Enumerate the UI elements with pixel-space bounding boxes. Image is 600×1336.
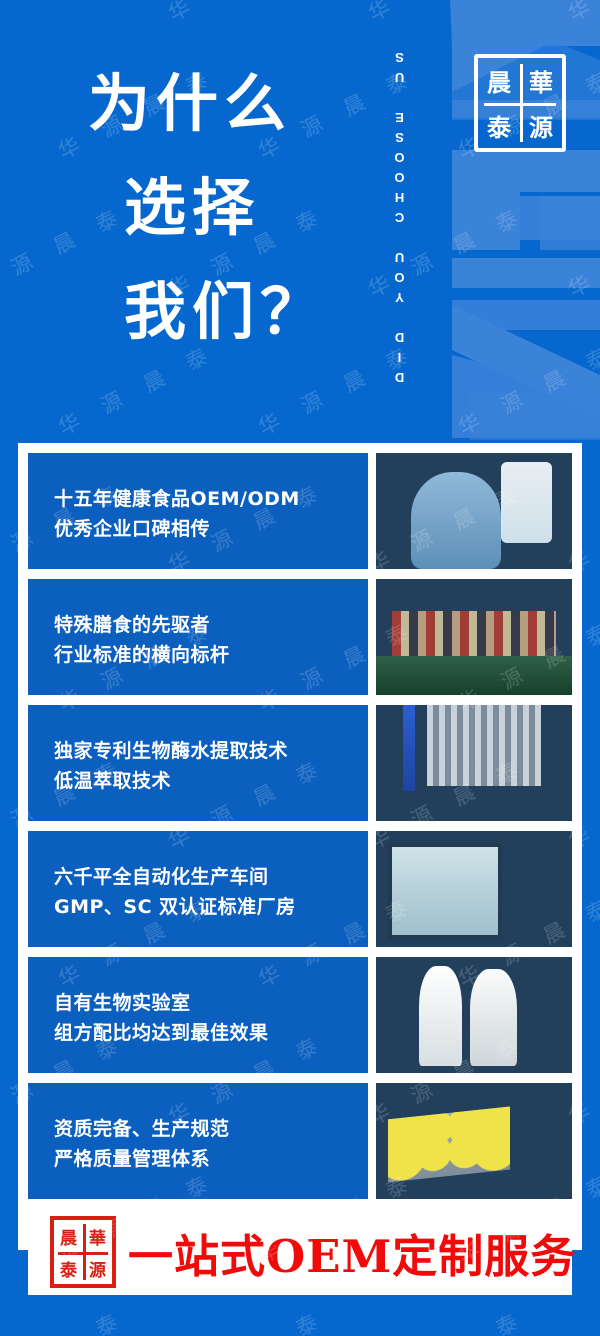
feature-text-box: 独家专利生物酶水提取技术 低温萃取技术 xyxy=(28,705,368,821)
title-line-2: 选择 xyxy=(124,156,388,260)
seal-char-4: 源 xyxy=(520,103,562,148)
page-title: 为什么 选择 我们？ xyxy=(88,52,388,364)
brand-seal-logo: 晨 華 泰 源 xyxy=(474,54,566,152)
seal-char-1: 晨 xyxy=(478,58,520,103)
feature-text-box: 自有生物实验室 组方配比均达到最佳效果 xyxy=(28,957,368,1073)
feature-row: 自有生物实验室 组方配比均达到最佳效果 xyxy=(28,957,572,1073)
poster-root: 为什么 选择 我们？ DID YOU CHOOSE US 晨 華 泰 源 十五年… xyxy=(0,0,600,1336)
feature-line-2: 低温萃取技术 xyxy=(54,766,360,796)
feature-photo-conference xyxy=(376,579,572,695)
feature-photo-lab-staff xyxy=(376,957,572,1073)
watermark-text: 华 源 晨 泰 xyxy=(363,1302,532,1336)
title-line-1: 为什么 xyxy=(88,52,388,156)
footer-seal-char-4: 源 xyxy=(83,1252,112,1284)
feature-list: 十五年健康食品OEM/ODM 优秀企业口碑相传 特殊膳食的先驱者 行业标准的横向… xyxy=(28,453,572,1199)
feature-text-box: 资质完备、生产规范 严格质量管理体系 xyxy=(28,1083,368,1199)
vertical-english-caption: DID YOU CHOOSE US xyxy=(392,30,422,400)
feature-line-1: 特殊膳食的先驱者 xyxy=(54,610,360,640)
footer-banner: 晨 華 泰 源 一站式OEM定制服务 xyxy=(28,1209,572,1295)
feature-line-1: 独家专利生物酶水提取技术 xyxy=(54,736,360,766)
watermark-text: 华 源 晨 泰 xyxy=(163,1302,332,1336)
footer-slogan: 一站式OEM定制服务 xyxy=(128,1220,576,1285)
features-card: 十五年健康食品OEM/ODM 优秀企业口碑相传 特殊膳食的先驱者 行业标准的横向… xyxy=(18,443,582,1250)
feature-line-1: 六千平全自动化生产车间 xyxy=(54,862,360,892)
feature-photo-filling-line xyxy=(376,705,572,821)
feature-line-1: 资质完备、生产规范 xyxy=(54,1114,360,1144)
feature-text-box: 特殊膳食的先驱者 行业标准的横向标杆 xyxy=(28,579,368,695)
feature-photo-blister-packing xyxy=(376,1083,572,1199)
feature-row: 特殊膳食的先驱者 行业标准的横向标杆 xyxy=(28,579,572,695)
seal-divider-horizontal xyxy=(484,103,556,106)
footer-seal-char-3: 泰 xyxy=(54,1252,83,1284)
watermark-text: 华 源 晨 泰 xyxy=(563,1302,600,1336)
feature-text-box: 十五年健康食品OEM/ODM 优秀企业口碑相传 xyxy=(28,453,368,569)
feature-line-2: 严格质量管理体系 xyxy=(54,1144,360,1174)
footer-seal-char-2: 華 xyxy=(83,1220,112,1252)
footer-seal-char-1: 晨 xyxy=(54,1220,83,1252)
title-line-3: 我们？ xyxy=(124,260,388,364)
feature-row: 六千平全自动化生产车间 GMP、SC 双认证标准厂房 xyxy=(28,831,572,947)
feature-row: 独家专利生物酶水提取技术 低温萃取技术 xyxy=(28,705,572,821)
feature-line-1: 十五年健康食品OEM/ODM xyxy=(54,484,360,514)
feature-photo-lab-technician xyxy=(376,453,572,569)
feature-row: 十五年健康食品OEM/ODM 优秀企业口碑相传 xyxy=(28,453,572,569)
seal-char-2: 華 xyxy=(520,58,562,103)
footer-seal-logo: 晨 華 泰 源 xyxy=(50,1216,116,1288)
feature-row: 资质完备、生产规范 严格质量管理体系 xyxy=(28,1083,572,1199)
feature-line-1: 自有生物实验室 xyxy=(54,988,360,1018)
seal-char-3: 泰 xyxy=(478,103,520,148)
feature-text-box: 六千平全自动化生产车间 GMP、SC 双认证标准厂房 xyxy=(28,831,368,947)
feature-line-2: 优秀企业口碑相传 xyxy=(54,514,360,544)
footer-seal-divider-horizontal xyxy=(58,1252,108,1255)
feature-line-2: 组方配比均达到最佳效果 xyxy=(54,1018,360,1048)
poster-header: 为什么 选择 我们？ DID YOU CHOOSE US 晨 華 泰 源 xyxy=(0,0,600,440)
feature-photo-cleanroom xyxy=(376,831,572,947)
feature-line-2: GMP、SC 双认证标准厂房 xyxy=(54,892,360,922)
watermark-text: 华 源 晨 泰 xyxy=(0,1302,131,1336)
feature-line-2: 行业标准的横向标杆 xyxy=(54,640,360,670)
